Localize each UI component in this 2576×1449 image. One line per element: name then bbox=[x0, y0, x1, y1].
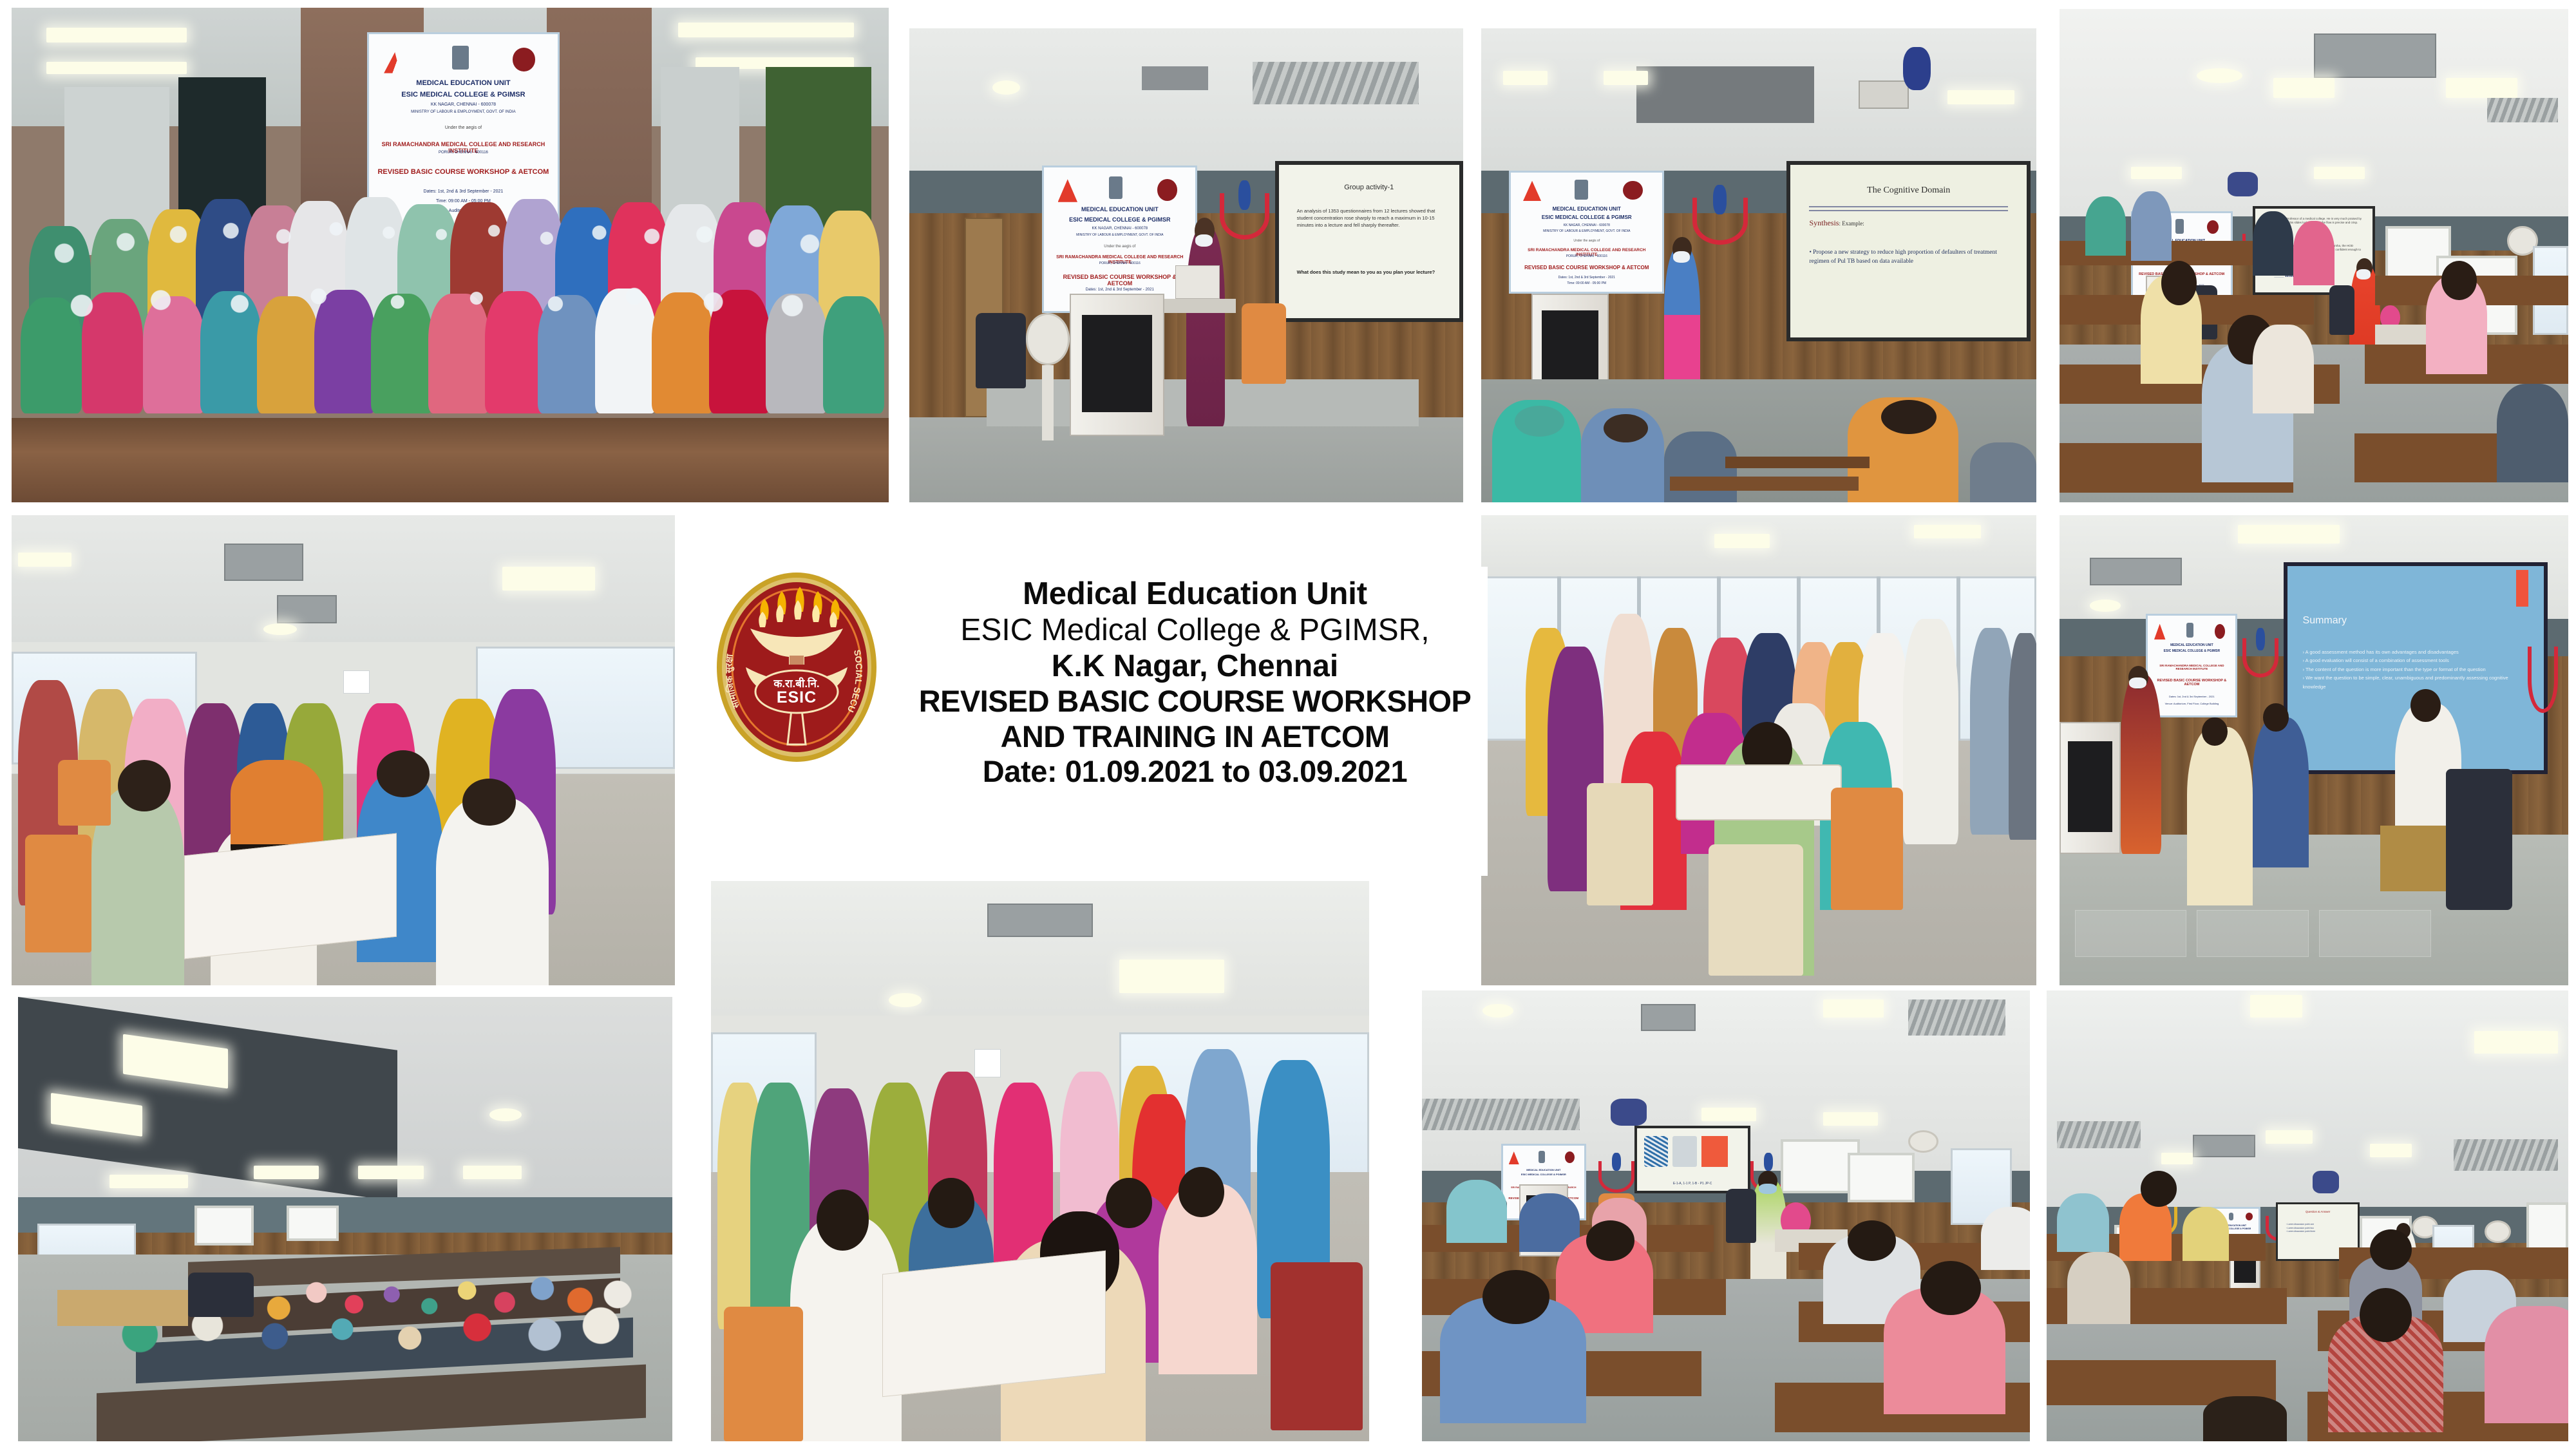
photo-classroom-rear-view: MEDICAL EDUCATION UNIT ESIC MEDICAL COLL… bbox=[2047, 990, 2568, 1441]
title-line-2: ESIC Medical College & PGIMSR, bbox=[902, 612, 1488, 649]
esic-logo-wrapper: क.रा.बी.नि. ESIC सामाजिक सुरक्षा SOCIAL … bbox=[708, 571, 885, 764]
title-line-6: Date: 01.09.2021 to 03.09.2021 bbox=[902, 754, 1488, 790]
title-line-4: REVISED BASIC COURSE WORKSHOP bbox=[902, 684, 1488, 719]
title-line-3: K.K Nagar, Chennai bbox=[902, 649, 1488, 685]
projected-slide-portrait: E-1-A, 1-1 P, 1-B - P1 JP-C bbox=[1634, 1126, 1750, 1193]
centre-title-block: क.रा.बी.नि. ESIC सामाजिक सुरक्षा SOCIAL … bbox=[708, 567, 1488, 876]
title-line-5: AND TRAINING IN AETCOM bbox=[902, 719, 1488, 755]
projected-slide-cognitive: The Cognitive Domain Synthesis: Example:… bbox=[1786, 161, 2031, 341]
photo-auditorium-wide-view bbox=[18, 997, 672, 1441]
svg-text:ESIC: ESIC bbox=[777, 688, 817, 706]
photo-classroom-session-wide: MEDICAL EDUCATION UNIT ESIC MEDICAL COLL… bbox=[2060, 9, 2568, 502]
photo-podium-group-activity: MEDICAL EDUCATION UNIT ESIC MEDICAL COLL… bbox=[909, 28, 1463, 502]
photo-group-work-centre bbox=[711, 881, 1369, 1441]
photo-small-group-discussion-right bbox=[1481, 515, 2036, 985]
photo-group-photograph: MEDICAL EDUCATION UNIT ESIC MEDICAL COLL… bbox=[12, 8, 889, 502]
svg-text:क.रा.बी.नि.: क.रा.बी.नि. bbox=[773, 677, 819, 690]
title-lines: Medical Education Unit ESIC Medical Coll… bbox=[902, 567, 1488, 790]
photo-cognitive-domain: MEDICAL EDUCATION UNIT ESIC MEDICAL COLL… bbox=[1481, 28, 2036, 502]
photo-collage: MEDICAL EDUCATION UNIT ESIC MEDICAL COLL… bbox=[0, 0, 2576, 1449]
photo-summary-session: Summary › A good assessment method has i… bbox=[2060, 515, 2568, 985]
photo-small-group-discussion-left bbox=[12, 515, 675, 985]
title-line-1: Medical Education Unit bbox=[902, 576, 1488, 612]
esic-emblem-icon: क.रा.बी.नि. ESIC सामाजिक सुरक्षा SOCIAL … bbox=[715, 571, 879, 764]
photo-facilitator-presentation-classroom: MEDICAL EDUCATION UNIT ESIC MEDICAL COLL… bbox=[1422, 990, 2030, 1441]
projected-slide: Group activity-1 An analysis of 1353 que… bbox=[1275, 161, 1463, 322]
